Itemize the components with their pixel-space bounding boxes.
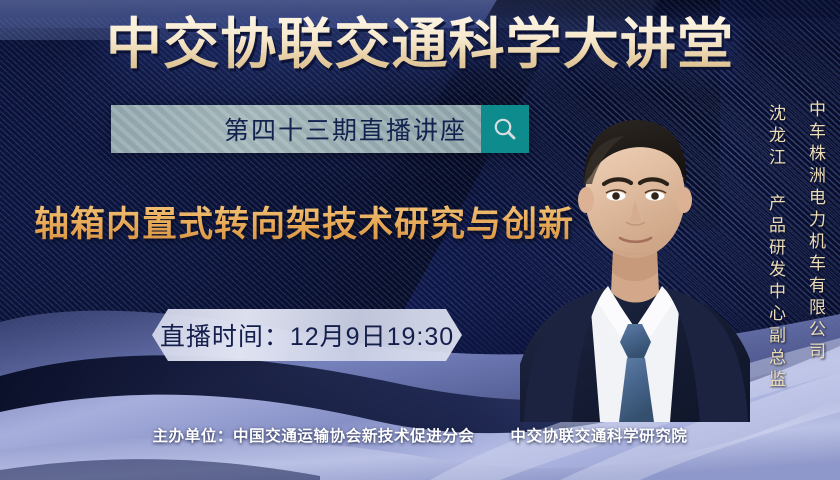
footer: 主办单位：中国交通运输协会新技术促进分会 中交协联交通科学研究院: [0, 424, 840, 446]
footer-organizer: 主办单位：中国交通运输协会新技术促进分会: [153, 428, 475, 445]
speaker-name-role: 沈龙江 产品研发中心副总监: [763, 104, 788, 392]
topic-title: 轴箱内置式转向架技术研究与创新: [34, 196, 574, 247]
session-banner[interactable]: 第四十三期直播讲座: [111, 105, 529, 153]
search-icon: [492, 116, 518, 142]
speaker-company: 中车株洲电力机车有限公司: [803, 100, 828, 364]
footer-institute: 中交协联交通科学研究院: [510, 428, 687, 445]
poster-canvas: 中交协联交通科学大讲堂 第四十三期直播讲座 轴箱内置式转向架技术研究与创新: [0, 0, 840, 480]
broadcast-time-text: 直播时间：12月9日19:30: [160, 317, 454, 353]
speaker-portrait: [520, 92, 750, 422]
session-banner-body: 第四十三期直播讲座: [111, 105, 481, 153]
session-label: 第四十三期直播讲座: [224, 111, 481, 147]
page-title: 中交协联交通科学大讲堂: [0, 14, 840, 74]
broadcast-time-chip: 直播时间：12月9日19:30: [152, 309, 462, 361]
